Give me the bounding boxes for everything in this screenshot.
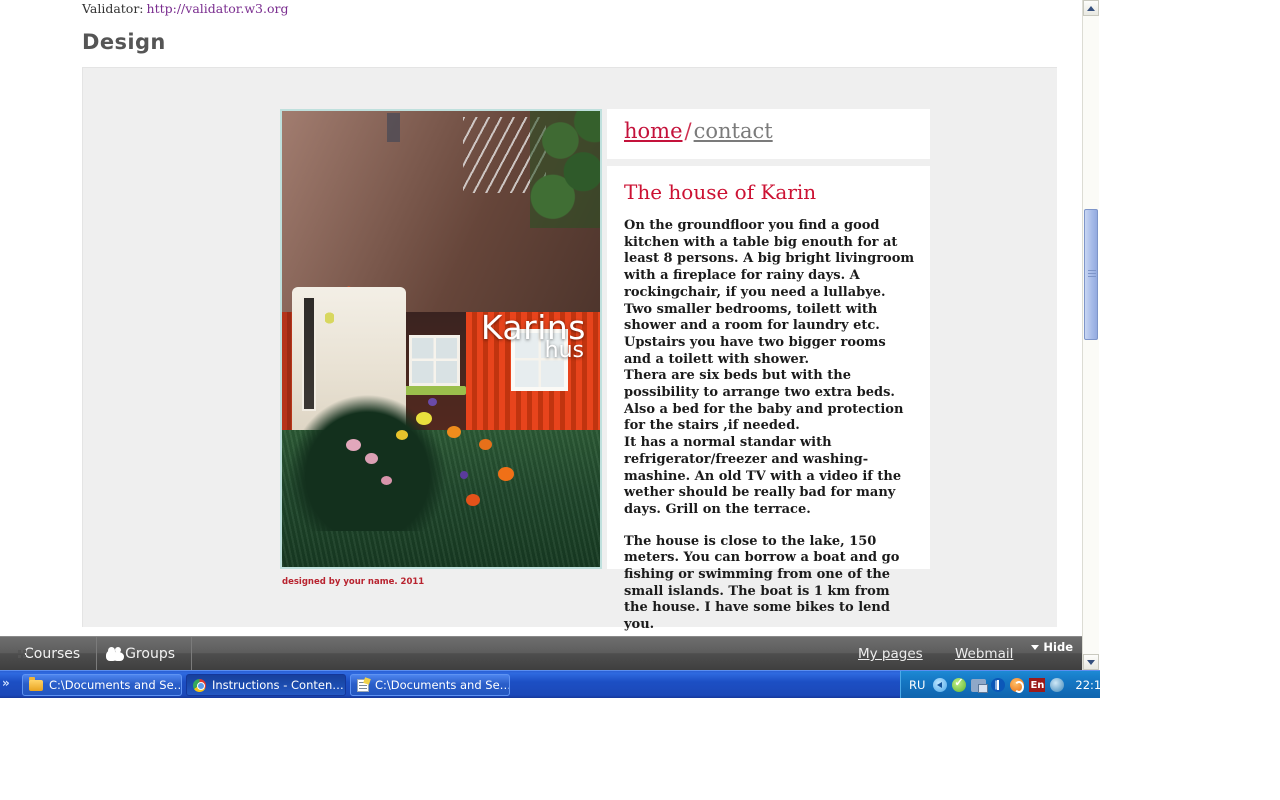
show-hidden-icons-icon[interactable]: [933, 678, 947, 692]
folder-icon: [29, 680, 43, 691]
cottage-photo: Karins hus: [280, 109, 602, 569]
site-nav: home/contact: [624, 119, 773, 143]
scrollbar-thumb[interactable]: [1084, 209, 1098, 340]
taskbar-button-label: Instructions - Conten…: [212, 678, 344, 692]
browser-viewport: Validator:http://validator.w3.org Design: [0, 0, 1082, 670]
validator-link[interactable]: http://validator.w3.org: [147, 1, 289, 16]
scroll-up-button[interactable]: [1083, 0, 1099, 16]
design-credit: designed by your name. 2011: [282, 577, 424, 587]
design-panel: Karins hus designed by your name. 2011 h…: [82, 67, 1057, 627]
scroll-down-button[interactable]: [1083, 654, 1099, 670]
article-title: The house of Karin: [624, 180, 816, 204]
tab-groups[interactable]: Groups: [97, 637, 192, 671]
vertical-scrollbar[interactable]: [1082, 0, 1098, 670]
scrollbar-track-lower[interactable]: [1083, 340, 1099, 654]
taskbar-button[interactable]: C:\Documents and Se…: [22, 674, 182, 696]
security-check-icon[interactable]: [952, 678, 966, 692]
article-body: On the groundfloor you find a good kitch…: [624, 218, 916, 634]
taskbar-button-label: C:\Documents and Se…: [375, 678, 510, 692]
site-text-panel: The house of Karin On the groundfloor yo…: [607, 166, 930, 569]
bluetooth-icon[interactable]: [991, 678, 1005, 692]
flower-blossom: [381, 476, 392, 485]
flower-blossom: [346, 439, 361, 451]
chrome-icon: [193, 679, 206, 692]
flower-blossom: [447, 426, 461, 438]
validator-line: Validator:http://validator.w3.org: [82, 1, 288, 16]
tray-language-label[interactable]: RU: [909, 678, 925, 692]
article-paragraph: On the groundfloor you find a good kitch…: [624, 218, 916, 335]
window-left: [409, 335, 460, 386]
scrollbar-track-upper[interactable]: [1083, 16, 1099, 209]
lms-toolbar: Courses Groups My pages Webmail Hide: [0, 636, 1082, 670]
chimney: [387, 113, 400, 142]
quick-launch-overflow-icon[interactable]: »: [2, 676, 10, 690]
photo-artwork: Karins hus: [282, 111, 600, 567]
toolbar-spacer: [192, 637, 1082, 671]
flower-blossom: [416, 412, 432, 425]
antivirus-icon[interactable]: [1010, 678, 1024, 692]
site-mockup: Karins hus designed by your name. 2011 h…: [280, 109, 930, 599]
hide-label: Hide: [1043, 640, 1073, 654]
validator-label: Validator:: [82, 1, 144, 16]
desktop-bottom-blank: [0, 698, 1280, 800]
tab-courses[interactable]: Courses: [0, 637, 97, 671]
nav-link-home[interactable]: home: [624, 119, 683, 143]
article-paragraph: Thera are six beds but with the possibil…: [624, 368, 916, 435]
input-locale-icon[interactable]: En: [1029, 678, 1045, 692]
page-title: Design: [82, 30, 166, 54]
volume-icon[interactable]: [1050, 678, 1064, 692]
taskbar-button-label: C:\Documents and Se…: [49, 678, 182, 692]
site-nav-panel: home/contact: [607, 109, 930, 159]
article-paragraph: Upstairs you have two bigger rooms and a…: [624, 335, 916, 368]
tab-courses-label: Courses: [24, 646, 80, 662]
article-paragraph: It has a normal standar with refrigerato…: [624, 435, 916, 519]
hanging-plant: [325, 308, 334, 329]
chevron-up-icon: [1087, 6, 1095, 11]
link-my-pages[interactable]: My pages: [858, 637, 923, 671]
link-webmail[interactable]: Webmail: [955, 637, 1013, 671]
flower-blossom: [365, 453, 378, 464]
nav-link-contact[interactable]: contact: [694, 119, 773, 143]
network-icon[interactable]: [971, 679, 986, 692]
nav-separator: /: [685, 119, 692, 143]
desktop-right-blank: [1100, 0, 1280, 698]
system-tray: RU En 22:16: [900, 671, 1100, 699]
taskbar-button[interactable]: Instructions - Conten…: [186, 674, 346, 696]
photo-caption-overlay: Karins hus: [481, 312, 586, 362]
tab-groups-label: Groups: [125, 646, 175, 662]
people-icon: [113, 647, 117, 661]
notepad-icon: [357, 679, 369, 692]
vine-foliage: [530, 109, 602, 228]
triangle-down-icon: [1031, 645, 1039, 650]
taskbar-button[interactable]: C:\Documents and Se…: [350, 674, 510, 696]
article-paragraph: The house is close to the lake, 150 mete…: [624, 534, 916, 634]
flower-blossom: [498, 467, 514, 481]
hide-toolbar-button[interactable]: Hide: [1031, 637, 1073, 657]
windows-taskbar: » C:\Documents and Se… Instructions - Co…: [0, 670, 1100, 698]
scrollbar-grip-icon: [1088, 270, 1096, 277]
chevron-down-icon: [1087, 660, 1095, 665]
